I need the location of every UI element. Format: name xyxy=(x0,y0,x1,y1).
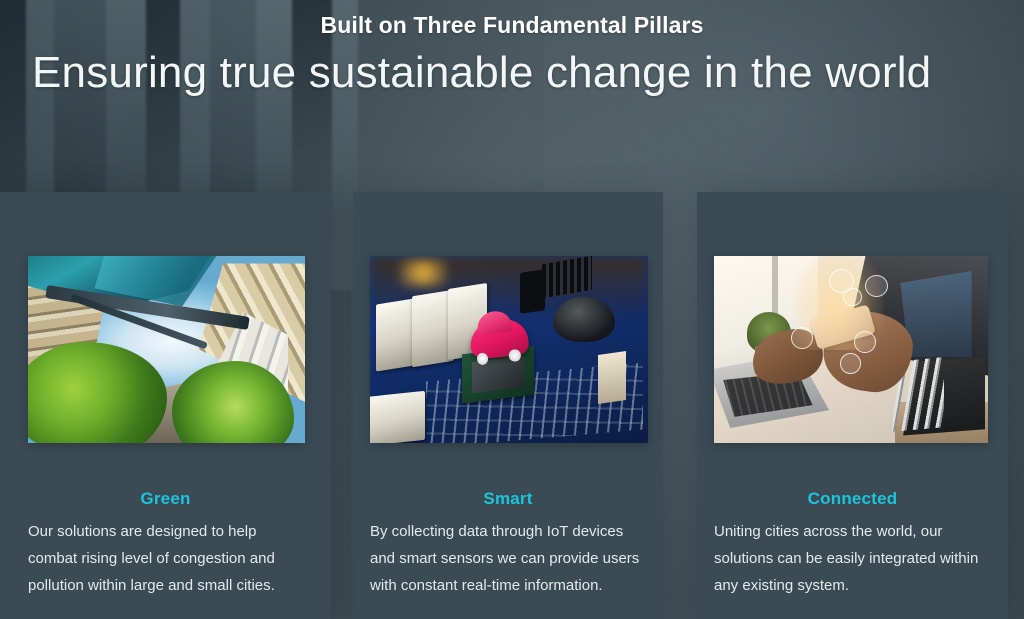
page-header: Built on Three Fundamental Pillars Ensur… xyxy=(0,0,1024,110)
pillar-title-green: Green xyxy=(0,489,331,509)
pillar-card-connected[interactable]: Connected Uniting cities across the worl… xyxy=(697,192,1008,619)
pillar-body-smart: By collecting data through IoT devices a… xyxy=(370,518,652,599)
pillar-title-connected: Connected xyxy=(697,489,1008,509)
eyebrow-title: Built on Three Fundamental Pillars xyxy=(0,12,1024,39)
pillar-title-smart: Smart xyxy=(353,489,663,509)
circuit-board-toy-car-photo xyxy=(370,256,648,443)
page-title: Ensuring true sustainable change in the … xyxy=(32,48,994,98)
green-city-buildings-photo xyxy=(28,256,305,443)
pillar-card-smart[interactable]: Smart By collecting data through IoT dev… xyxy=(353,192,663,619)
pillar-body-green: Our solutions are designed to help comba… xyxy=(28,518,304,599)
pillar-card-green[interactable]: Green Our solutions are designed to help… xyxy=(0,192,331,619)
hands-laptop-smartphone-photo xyxy=(714,256,988,443)
pillar-body-connected: Uniting cities across the world, our sol… xyxy=(714,518,982,599)
